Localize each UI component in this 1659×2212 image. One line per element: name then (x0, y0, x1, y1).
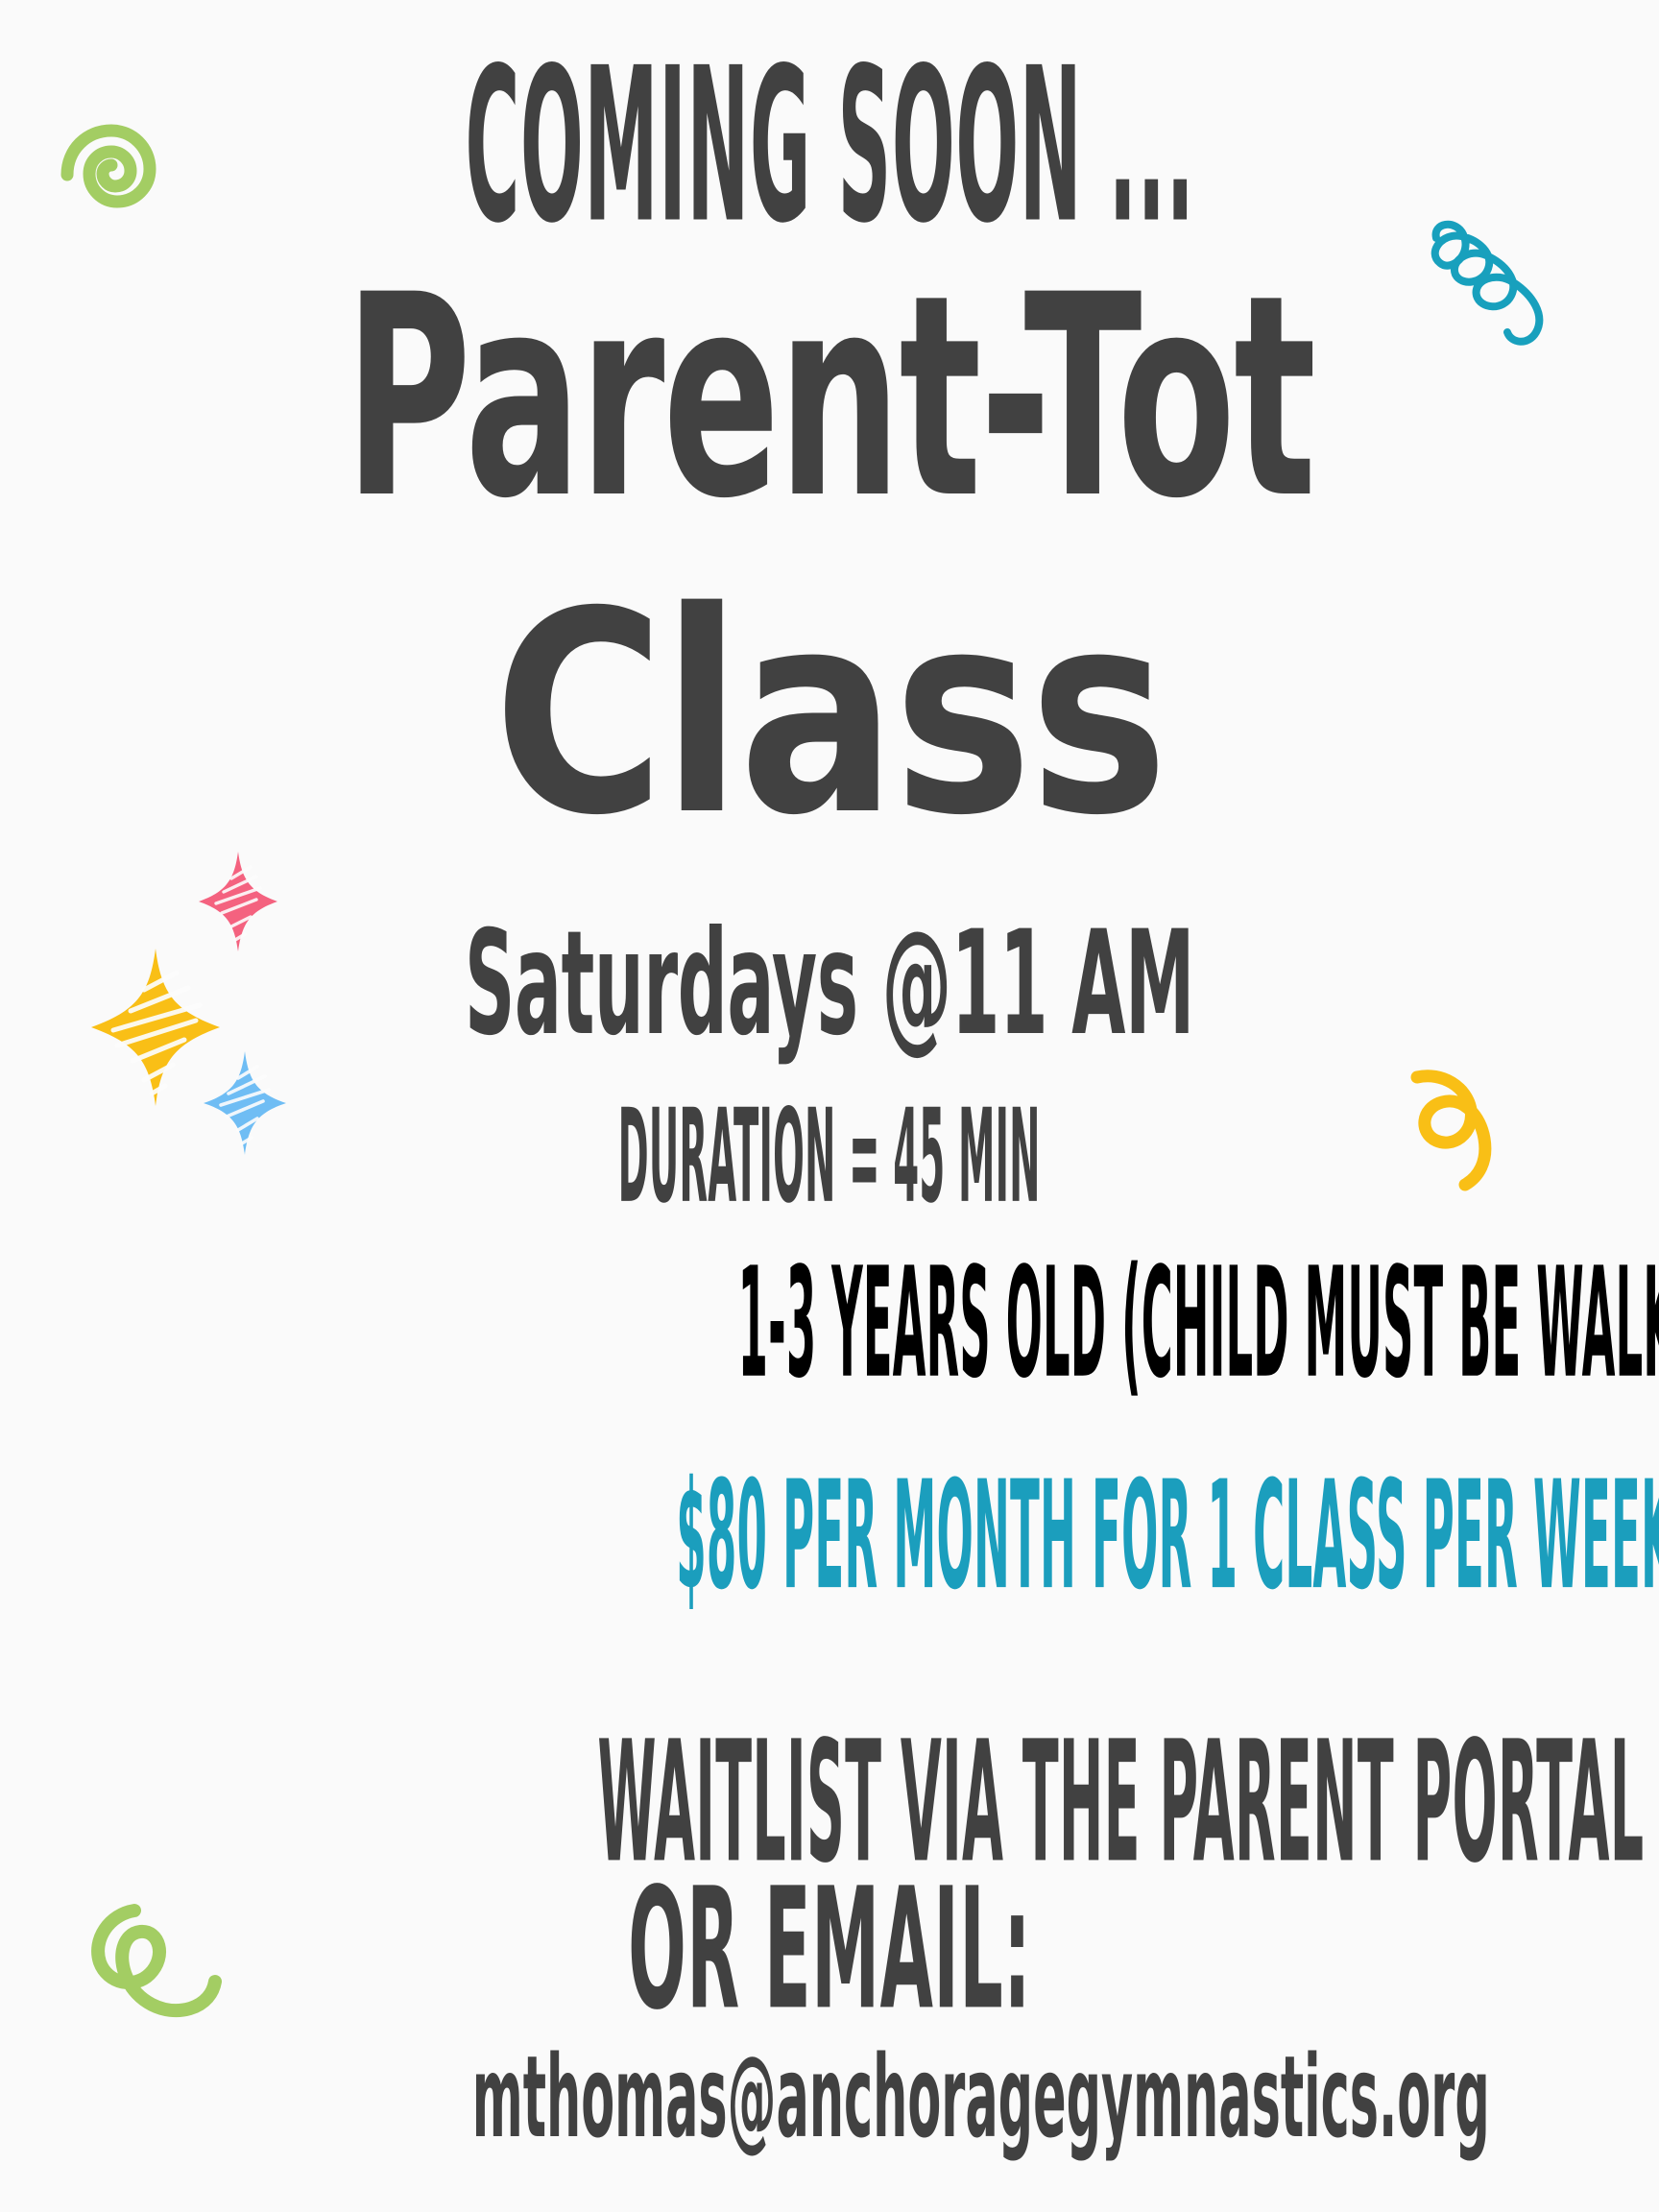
age-requirement-label: 1-3 YEARS OLD (CHILD MUST BE WALKING) (738, 1249, 1659, 1401)
page-title-line1: Parent-Tot (314, 259, 1345, 538)
kicker-label: COMING SOON ... (465, 39, 1194, 252)
signup-line2-text: OR EMAIL: (0, 1887, 1659, 2013)
contact-email-text[interactable]: mthomas@anchoragegymnastics.org (472, 2040, 1188, 2153)
teal-coil-icon (1419, 209, 1582, 373)
duration-label: DURATION = 45 MIN (618, 1094, 1041, 1223)
kicker-text: COMING SOON ... (0, 65, 1659, 227)
duration-text: DURATION = 45 MIN (0, 1109, 1659, 1207)
price-text: $80 PER MONTH FOR 1 CLASS PER WEEK (0, 1479, 1659, 1592)
yellow-sparkle-icon (88, 946, 223, 1109)
schedule-text: Saturdays @11 AM (428, 912, 1232, 1056)
signup-line2-label: OR EMAIL: (628, 1866, 1031, 2033)
page-title-line2: Class (134, 576, 1524, 854)
price-label: $80 PER MONTH FOR 1 CLASS PER WEEK (676, 1460, 1659, 1610)
age-requirement-text: 1-3 YEARS OLD (CHILD MUST BE WALKING) (0, 1267, 1659, 1382)
poster-canvas: COMING SOON ... Parent-Tot Class Saturda… (0, 0, 1659, 2212)
pink-sparkle-icon (197, 850, 279, 953)
signup-line1-text: WAITLIST VIA THE PARENT PORTAL (0, 1740, 1659, 1866)
